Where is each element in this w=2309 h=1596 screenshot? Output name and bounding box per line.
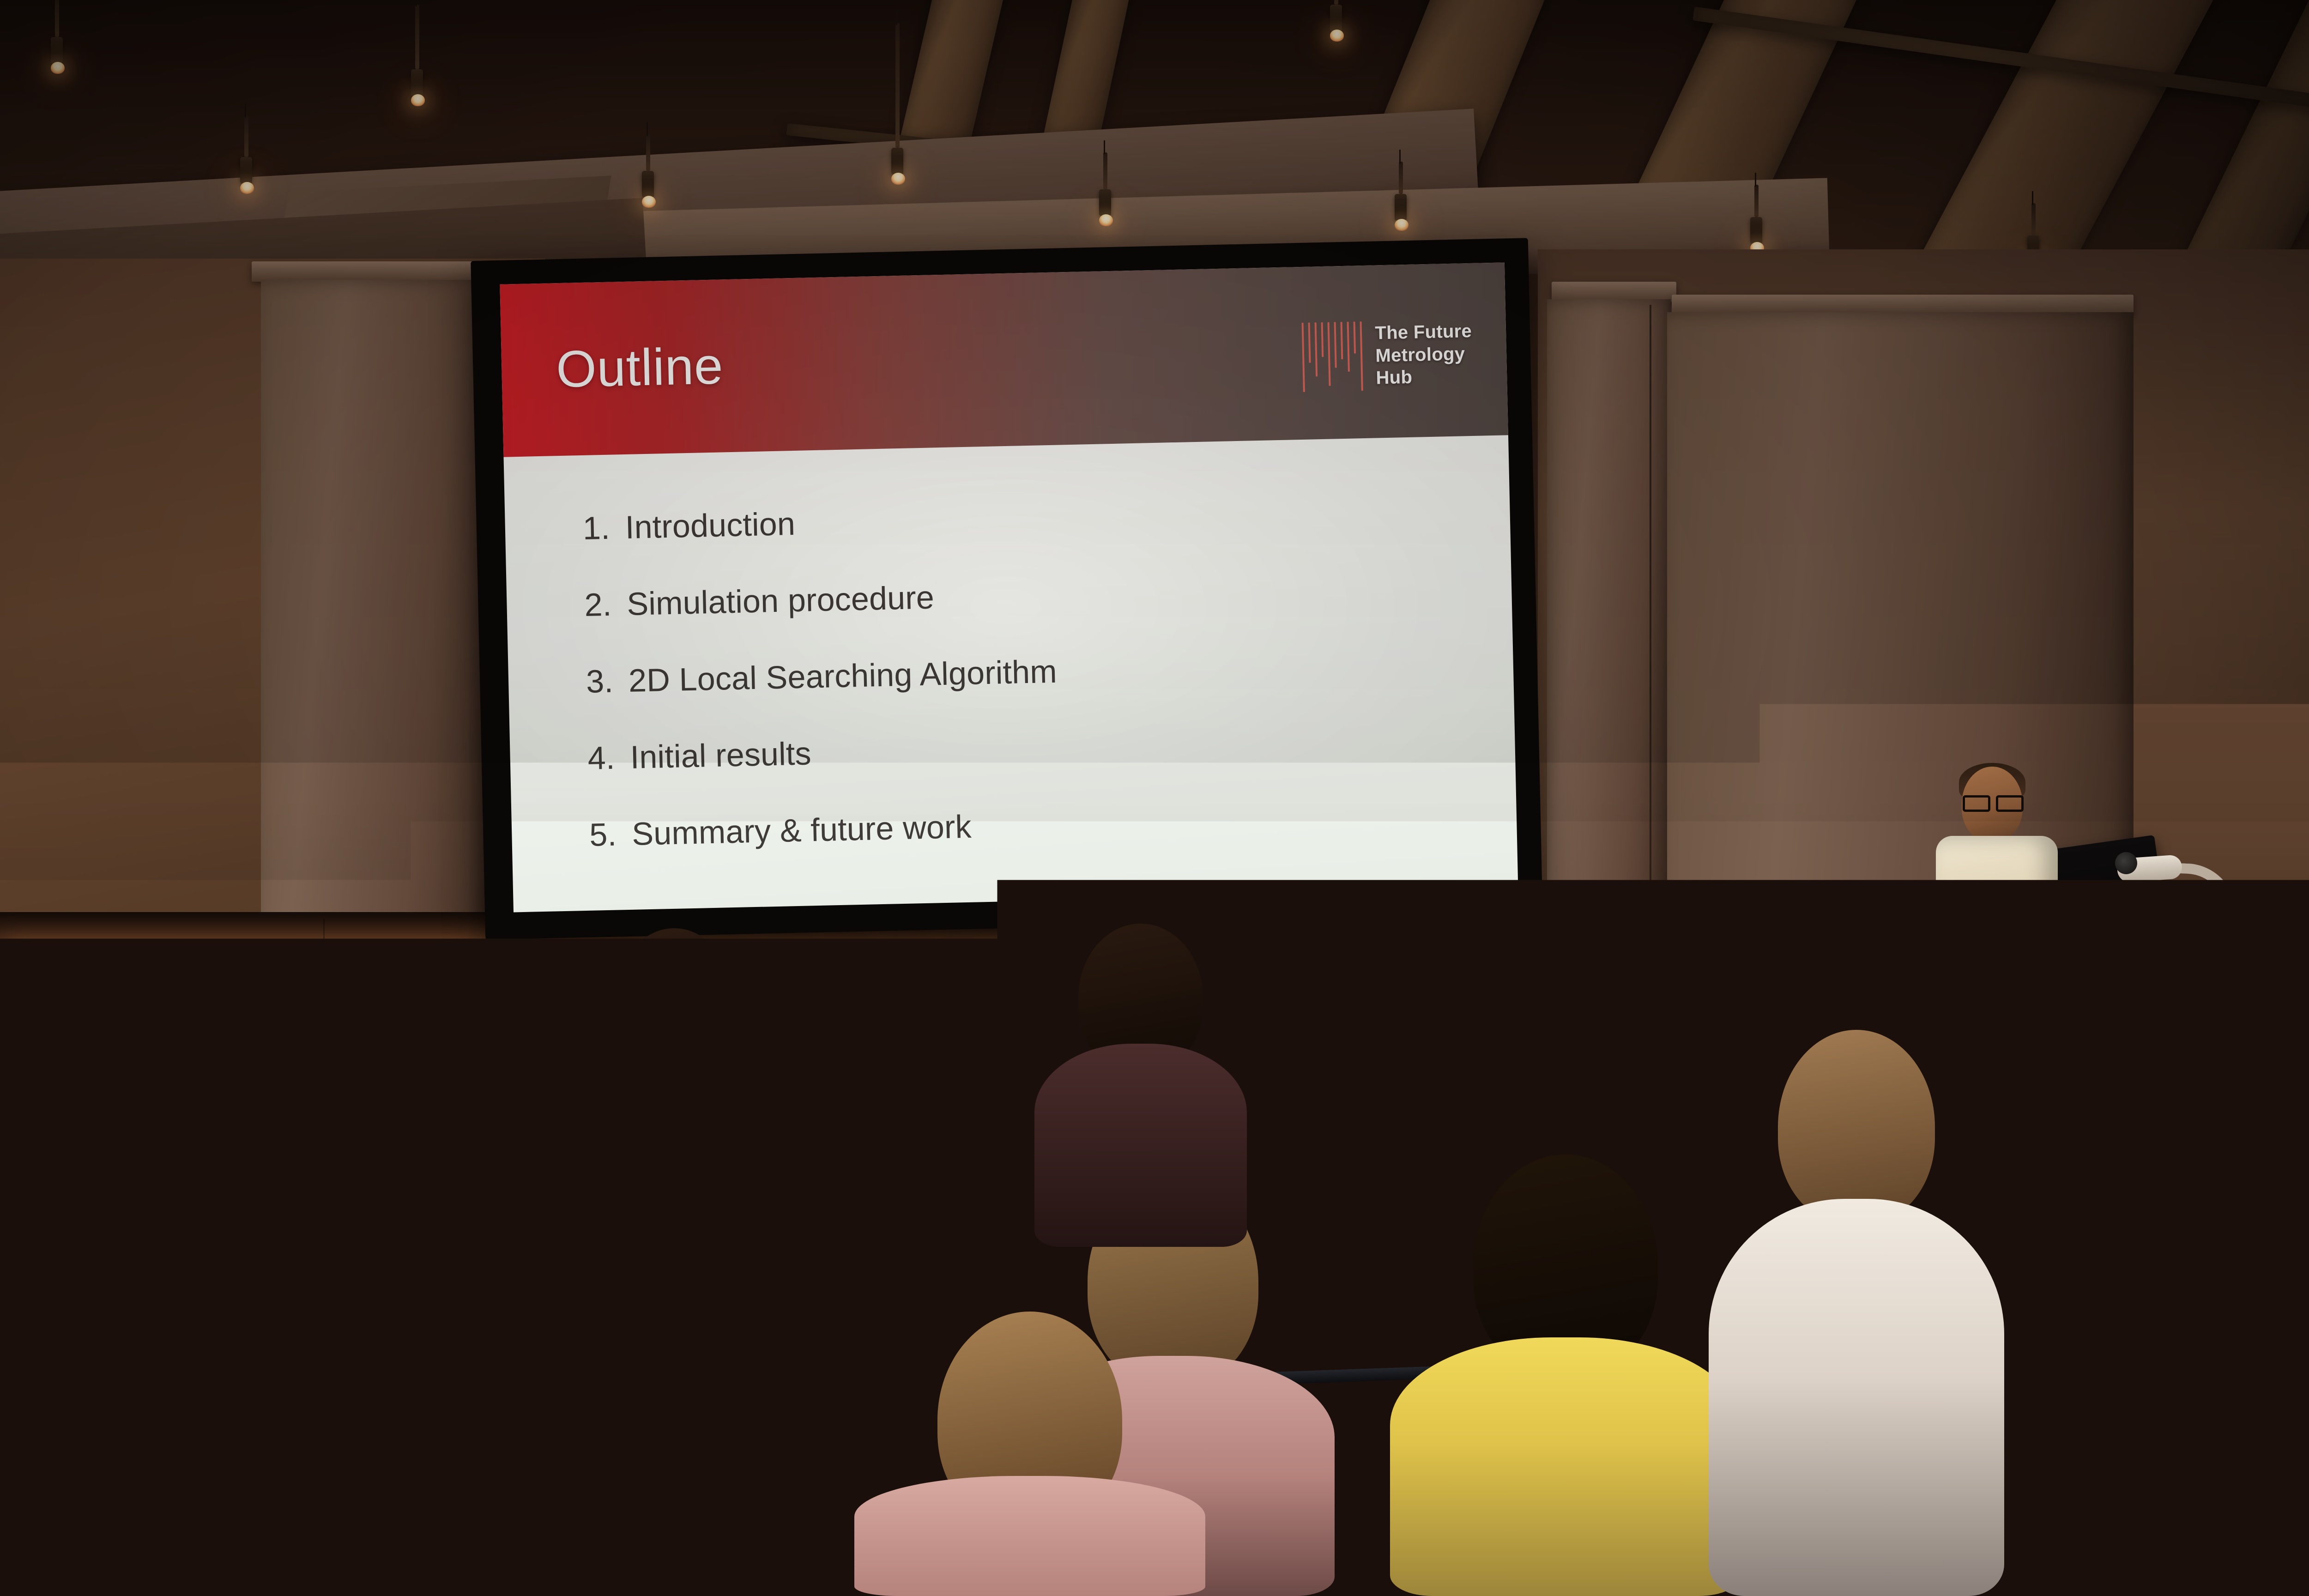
list-item-label: Summary & future work — [632, 808, 972, 852]
spotlight-body — [1330, 5, 1342, 31]
spotlight-lamp — [891, 173, 905, 185]
list-item-label: Simulation procedure — [627, 579, 935, 622]
list-item: 5. Summary & future work — [589, 796, 1517, 853]
jacket-branding-text: nikonmetrology — [2295, 1040, 2309, 1058]
spotlight-rod — [1754, 185, 1759, 217]
podium-item — [2167, 955, 2194, 982]
spotlight-wire — [896, 11, 897, 25]
list-item: 2. Simulation procedure — [584, 566, 1512, 623]
list-item: 3. 2D Local Searching Algorithm — [586, 643, 1513, 700]
spotlight-body — [1395, 194, 1407, 221]
spotlight-body — [891, 148, 903, 175]
ceiling-spotlight-6 — [1099, 152, 1111, 226]
ceiling-spotlight-3 — [891, 23, 903, 185]
list-item: 4. Initial results — [587, 719, 1515, 777]
drinking-glass — [2134, 975, 2162, 1016]
logo-bars-icon — [1302, 321, 1363, 392]
spotlight-rod — [1103, 152, 1107, 189]
audience-member — [854, 1312, 1205, 1596]
spotlight-lamp — [1395, 219, 1408, 231]
drinking-glass — [1658, 1016, 1692, 1064]
spotlight-body — [51, 37, 63, 64]
spotlight-body — [642, 171, 654, 198]
spotlight-rod — [646, 134, 650, 171]
spotlight-rod — [1399, 162, 1403, 194]
slide-surface: Outline The Fut — [500, 262, 1518, 912]
list-item-label: 2D Local Searching Algorithm — [628, 653, 1057, 699]
spotlight-wire — [647, 122, 648, 136]
spotlight-wire — [416, 0, 417, 6]
lecture-room-photo: Outline The Fut — [0, 0, 2309, 1596]
camera-lens-icon — [2115, 852, 2137, 874]
window-blind-right-a — [1547, 299, 1671, 946]
slide-header-band: Outline The Fut — [500, 262, 1508, 457]
spotlight-lamp — [51, 62, 65, 74]
audience-member — [2143, 1076, 2309, 1566]
blind-cord-right-a — [1650, 305, 1651, 919]
spotlight-lamp — [1099, 214, 1113, 226]
list-item-number: 4. — [587, 739, 631, 777]
audience-member-yellow-top — [1390, 1155, 1741, 1596]
list-item-number: 3. — [586, 662, 629, 700]
projection-screen[interactable]: Outline The Fut — [471, 238, 1543, 940]
blind-headrail-left — [252, 261, 496, 282]
spotlight-wire — [2032, 191, 2033, 205]
audience-member — [1709, 1030, 2004, 1596]
ceiling-spotlight-2 — [411, 5, 423, 106]
logo-wordmark: The Future Metrology Hub — [1375, 320, 1473, 390]
spotlight-rod — [415, 5, 419, 69]
spotlight-lamp — [1330, 30, 1344, 42]
ceiling-spotlight-8 — [1750, 185, 1762, 254]
spotlight-rod — [1334, 0, 1338, 5]
list-item-label: Initial results — [630, 735, 812, 776]
water-jug — [1353, 1030, 1413, 1122]
list-item-number: 1. — [582, 509, 626, 547]
spotlight-lamp — [642, 196, 656, 208]
list-item-number: 2. — [584, 586, 628, 623]
person-torso — [1709, 1199, 2004, 1596]
slide-outline-list: 1. Introduction 2. Simulation procedure … — [504, 435, 1517, 855]
spotlight-wire — [245, 103, 246, 117]
spotlight-rod — [55, 0, 59, 37]
logo-line-3: Hub — [1376, 365, 1473, 389]
audience-member — [1034, 924, 1247, 1247]
list-item-number: 5. — [589, 816, 633, 853]
spotlight-body — [240, 157, 252, 184]
person-torso — [383, 1236, 642, 1596]
person-head — [89, 1164, 251, 1362]
coffee-mug — [2004, 1503, 2087, 1596]
drinking-glass — [252, 1030, 284, 1076]
ceiling-spotlight-7 — [1395, 162, 1407, 231]
spotlight-lamp — [240, 182, 254, 194]
slide-title: Outline — [556, 340, 724, 395]
spotlight-wire — [1399, 150, 1401, 163]
spotlight-lamp — [411, 94, 425, 106]
water-jug — [344, 1007, 395, 1085]
ceiling-spotlight-5 — [642, 134, 654, 208]
spotlight-body — [1099, 189, 1111, 216]
list-item: 1. Introduction — [582, 490, 1510, 547]
ceiling-spotlight-11 — [1330, 0, 1342, 42]
ceiling-spotlight-4 — [240, 115, 252, 194]
spotlight-body — [411, 69, 423, 96]
person-torso — [854, 1476, 1205, 1596]
spotlight-rod — [2031, 203, 2036, 236]
logo-line-1: The Future — [1375, 320, 1472, 345]
future-metrology-hub-logo: The Future Metrology Hub — [1302, 319, 1473, 392]
spotlight-rod — [244, 115, 248, 157]
person-head — [1778, 1030, 1935, 1224]
person-torso — [1390, 1337, 1741, 1596]
spotlight-wire — [1104, 140, 1105, 154]
spotlight-rod — [895, 23, 900, 148]
logo-line-2: Metrology — [1375, 342, 1473, 367]
glasses-icon — [1962, 795, 2022, 807]
person-torso — [0, 1337, 369, 1596]
person-head — [866, 1039, 1018, 1224]
water-bottle — [2087, 903, 2109, 981]
ceiling-spotlight-1 — [51, 0, 63, 74]
spotlight-wire — [1755, 173, 1756, 187]
list-item-label: Introduction — [625, 505, 796, 546]
window-blind-left — [261, 280, 492, 936]
spotlight-body — [1750, 217, 1762, 244]
audience-member-striped-shirt — [0, 1164, 369, 1596]
person-torso — [1034, 1044, 1247, 1247]
person-torso — [2143, 1224, 2309, 1566]
